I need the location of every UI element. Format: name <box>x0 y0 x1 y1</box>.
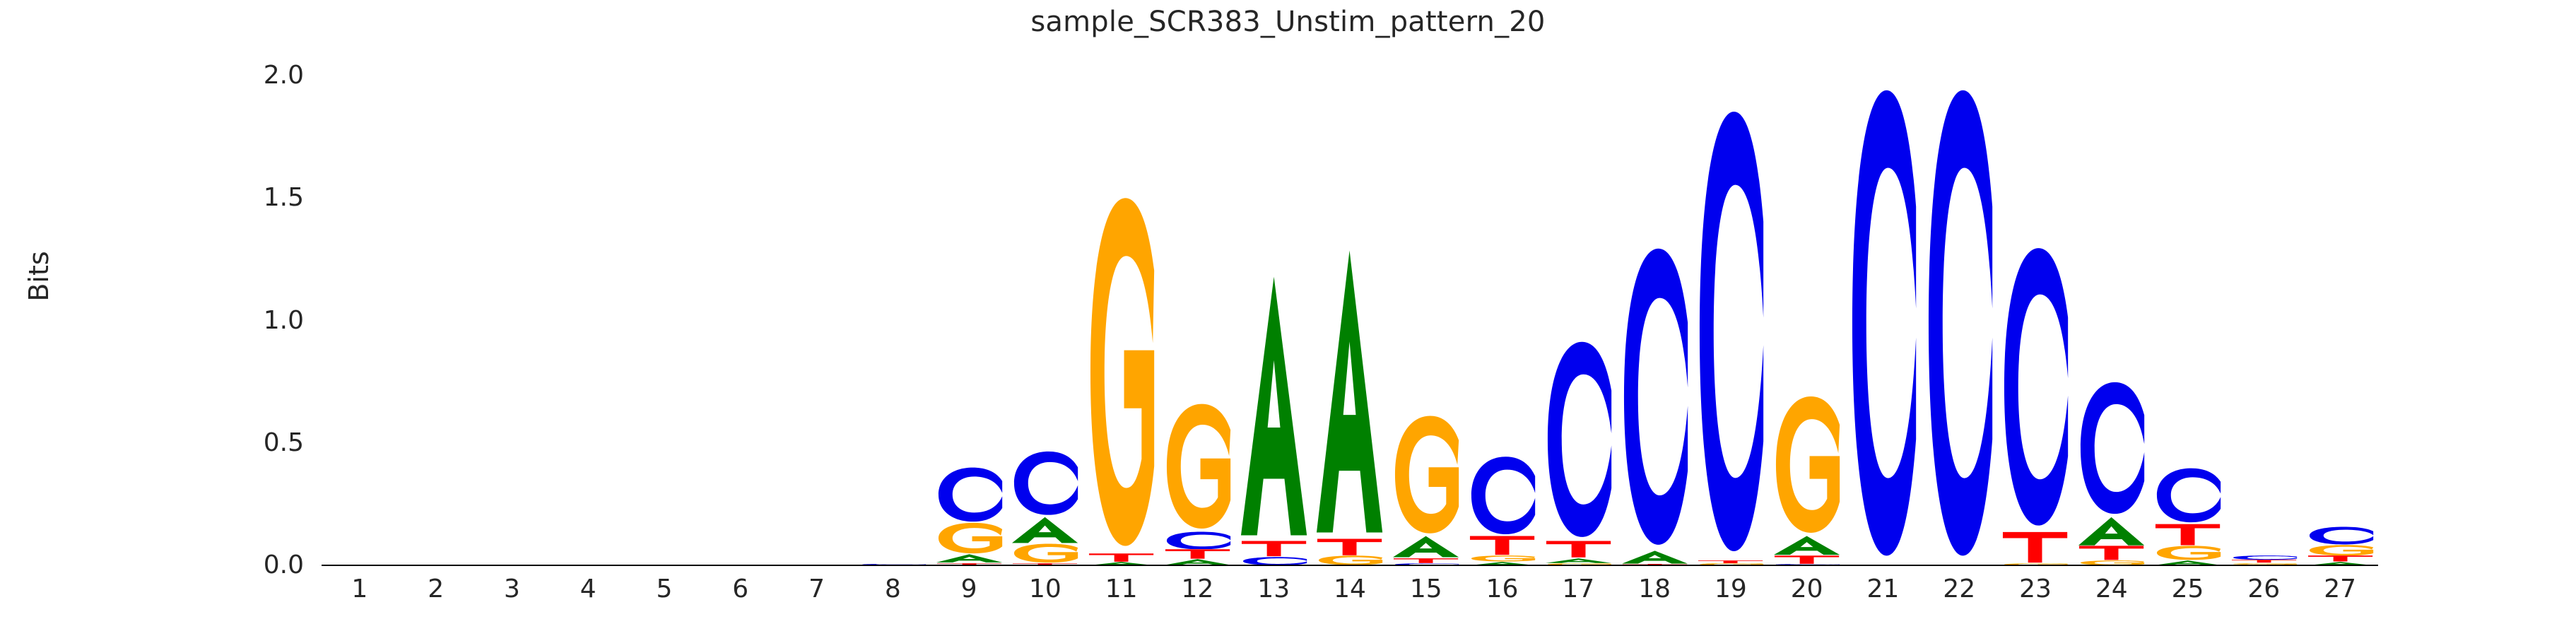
logo-letter-g <box>1010 543 1080 563</box>
logo-stack <box>2076 379 2146 565</box>
x-tick-label: 22 <box>1921 577 1997 602</box>
logo-letter-t <box>1239 541 1309 557</box>
y-tick-label: 1.5 <box>205 185 304 211</box>
logo-letter-t <box>1391 558 1461 563</box>
logo-letter-g <box>2305 545 2375 556</box>
x-tick-label: 9 <box>931 577 1007 602</box>
y-axis-tick-labels: 0.00.51.01.52.0 <box>205 0 304 636</box>
x-tick-label: 25 <box>2150 577 2226 602</box>
logo-stack <box>2153 467 2223 565</box>
logo-letter-g <box>1163 401 1233 531</box>
logo-letter-c <box>1543 338 1613 541</box>
x-tick-label: 21 <box>1845 577 1922 602</box>
x-tick-label: 15 <box>1388 577 1464 602</box>
logo-letter-c <box>2076 379 2146 517</box>
x-tick-label: 10 <box>1007 577 1083 602</box>
logo-letter-t <box>2305 555 2375 562</box>
logo-letter-c <box>1163 531 1233 550</box>
logo-letter-t <box>1163 549 1233 559</box>
logo-stack <box>1620 242 1690 565</box>
logo-stack <box>1239 271 1309 565</box>
y-axis-label: Bits <box>23 184 54 368</box>
x-tick-label: 24 <box>2074 577 2150 602</box>
logo-letter-c <box>2000 242 2070 531</box>
logo-letter-a <box>1010 517 1080 543</box>
x-tick-label: 6 <box>702 577 779 602</box>
x-tick-label: 17 <box>1540 577 1616 602</box>
logo-letter-c <box>1010 450 1080 517</box>
logo-stack <box>2305 526 2375 565</box>
logo-letter-a <box>2076 517 2146 546</box>
x-tick-label: 26 <box>2225 577 2302 602</box>
logo-letter-t <box>1772 555 1842 564</box>
logo-stack <box>1695 102 1765 565</box>
logo-stack <box>2229 555 2299 565</box>
logo-letter-c <box>1848 81 1918 565</box>
x-axis-line <box>322 565 2378 566</box>
logo-stack <box>1010 450 1080 565</box>
logo-letter-g <box>934 522 1004 554</box>
x-tick-label: 7 <box>779 577 855 602</box>
logo-letter-c <box>934 466 1004 523</box>
x-tick-label: 20 <box>1769 577 1845 602</box>
logo-stack <box>1924 81 1994 565</box>
logo-letter-t <box>2000 531 2070 563</box>
logo-stack <box>1391 413 1461 565</box>
logo-stack <box>2000 242 2070 565</box>
x-tick-label: 16 <box>1464 577 1541 602</box>
logo-stack <box>934 466 1004 565</box>
logo-letter-a <box>1620 550 1690 564</box>
x-tick-label: 27 <box>2302 577 2378 602</box>
logo-letter-g <box>2153 546 2223 560</box>
x-tick-label: 4 <box>550 577 626 602</box>
logo-stack <box>1315 245 1384 565</box>
logo-letter-c <box>1620 242 1690 551</box>
x-tick-label: 13 <box>1235 577 1312 602</box>
x-tick-label: 12 <box>1160 577 1236 602</box>
logo-letter-g <box>1315 555 1384 565</box>
logo-letter-a <box>1543 558 1613 563</box>
logo-letter-c <box>2305 526 2375 545</box>
logo-stack <box>1543 338 1613 565</box>
logo-letter-a <box>1315 245 1384 538</box>
logo-stack <box>1163 401 1233 565</box>
y-tick-label: 0.0 <box>205 553 304 578</box>
logo-letter-t <box>2153 524 2223 546</box>
logo-letter-c <box>2153 467 2223 524</box>
logo-letter-c <box>1695 102 1765 560</box>
x-tick-label: 5 <box>626 577 702 602</box>
sequence-logo-figure: sample_SCR383_Unstim_pattern_20 Bits 0.0… <box>0 0 2576 636</box>
logo-letter-t <box>2076 546 2146 560</box>
logo-letter-g <box>1467 555 1537 562</box>
logo-stack <box>1848 81 1918 565</box>
logo-letter-a <box>1239 271 1309 541</box>
logo-letter-g <box>1086 191 1156 553</box>
x-tick-label: 2 <box>398 577 474 602</box>
logo-letter-a <box>934 554 1004 563</box>
logo-letter-a <box>1772 536 1842 555</box>
x-tick-label: 11 <box>1083 577 1160 602</box>
x-tick-label: 1 <box>322 577 398 602</box>
y-tick-label: 0.5 <box>205 430 304 456</box>
logo-letter-g <box>1391 413 1461 536</box>
logo-letter-a <box>1391 536 1461 558</box>
x-tick-label: 23 <box>1997 577 2074 602</box>
logo-stack <box>1467 455 1537 565</box>
y-tick-label: 1.0 <box>205 308 304 334</box>
logo-letter-t <box>1315 538 1384 555</box>
x-tick-label: 3 <box>474 577 551 602</box>
logo-letter-c <box>1467 455 1537 536</box>
logo-letter-g <box>1772 394 1842 536</box>
plot-area <box>322 0 2378 636</box>
logo-stack <box>1086 191 1156 565</box>
x-tick-label: 19 <box>1693 577 1769 602</box>
logo-letter-t <box>1086 553 1156 562</box>
x-tick-label: 8 <box>854 577 931 602</box>
y-tick-label: 2.0 <box>205 63 304 88</box>
logo-letter-t <box>1467 536 1537 555</box>
x-tick-label: 18 <box>1616 577 1693 602</box>
logo-stack <box>1772 394 1842 565</box>
x-tick-label: 14 <box>1312 577 1388 602</box>
logo-letter-c <box>1924 81 1994 565</box>
logo-letter-t <box>1543 541 1613 558</box>
